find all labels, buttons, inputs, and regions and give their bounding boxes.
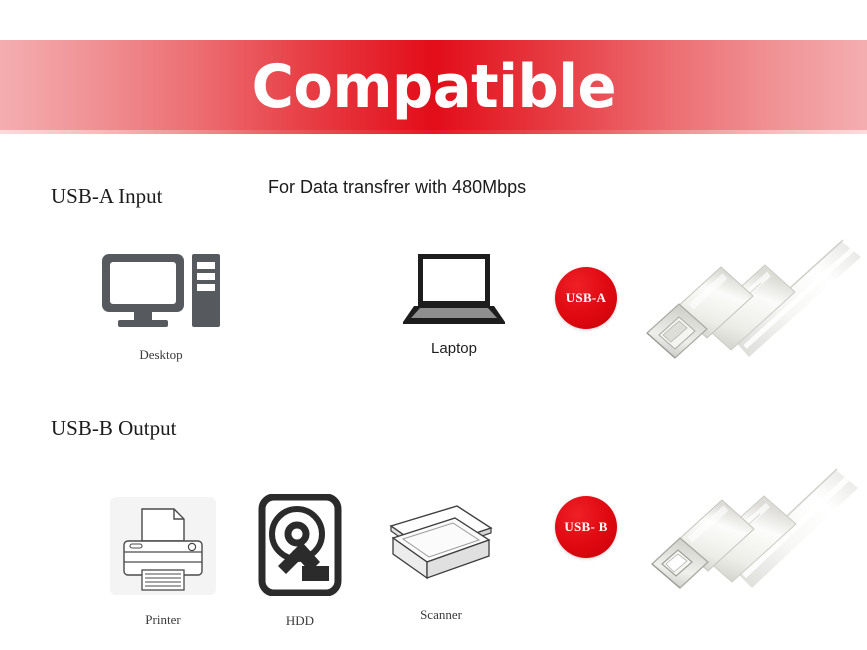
section-heading-usb-b: USB-B Output xyxy=(51,416,176,441)
device-scanner: Scanner xyxy=(385,500,497,623)
desktop-computer-icon xyxy=(100,250,222,335)
device-label-hdd: HDD xyxy=(286,613,314,629)
hard-disk-drive-icon xyxy=(258,494,342,601)
usb-a-connector-image xyxy=(645,235,867,370)
usb-b-connector-image xyxy=(640,468,866,613)
device-label-printer: Printer xyxy=(145,612,180,628)
device-label-scanner: Scanner xyxy=(420,607,462,623)
device-printer: Printer xyxy=(110,497,216,628)
device-label-desktop: Desktop xyxy=(139,347,182,363)
data-transfer-note: For Data transfrer with 480Mbps xyxy=(268,177,526,198)
badge-usb-a: USB-A xyxy=(555,267,617,329)
device-laptop: Laptop xyxy=(398,252,510,357)
section-heading-usb-a: USB-A Input xyxy=(51,184,162,209)
device-hdd: HDD xyxy=(258,494,342,629)
badge-usb-b-label: USB- B xyxy=(564,519,607,535)
flatbed-scanner-icon xyxy=(385,500,497,595)
badge-usb-a-label: USB-A xyxy=(566,290,607,306)
laptop-icon xyxy=(398,252,510,331)
device-label-laptop: Laptop xyxy=(431,340,477,357)
printer-icon xyxy=(110,497,216,600)
device-desktop: Desktop xyxy=(100,250,222,363)
page-title: Compatible xyxy=(251,57,615,117)
header-banner: Compatible xyxy=(0,40,867,134)
badge-usb-b: USB- B xyxy=(555,496,617,558)
